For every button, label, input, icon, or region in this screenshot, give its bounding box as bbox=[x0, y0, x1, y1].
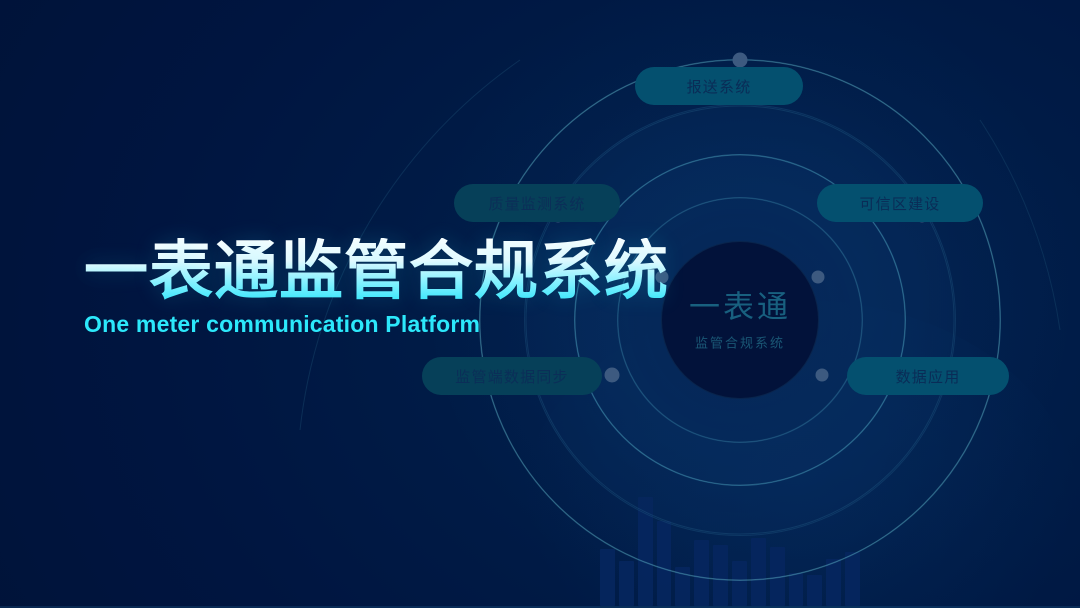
connector-dot-left-lower bbox=[605, 368, 620, 383]
slide-canvas: 一表通 监管合规系统 报送系统 质量监测系统 可信区建设 监管端数据同步 数据应… bbox=[0, 0, 1080, 608]
node-pill-label: 质量监测系统 bbox=[488, 193, 585, 214]
page-subtitle: One meter communication Platform bbox=[84, 311, 669, 338]
chart-bar bbox=[826, 559, 841, 606]
node-pill-kexinqu[interactable]: 可信区建设 bbox=[817, 184, 983, 222]
node-pill-jianguan[interactable]: 监管端数据同步 bbox=[422, 357, 602, 395]
connector-dot-right-lower-inner bbox=[816, 369, 829, 382]
node-pill-baosong[interactable]: 报送系统 bbox=[635, 67, 803, 105]
node-pill-shuju[interactable]: 数据应用 bbox=[847, 357, 1009, 395]
chart-bar bbox=[619, 561, 634, 606]
chart-bar bbox=[789, 573, 804, 606]
connector-dot-top bbox=[733, 53, 748, 68]
node-pill-zhiliang[interactable]: 质量监测系统 bbox=[454, 184, 620, 222]
page-title: 一表通监管合规系统 bbox=[84, 238, 669, 305]
chart-bar bbox=[845, 552, 860, 606]
hub-center-label: 一表通 监管合规系统 bbox=[640, 289, 840, 350]
node-pill-label: 监管端数据同步 bbox=[455, 366, 568, 387]
title-block: 一表通监管合规系统 One meter communication Platfo… bbox=[84, 238, 669, 338]
node-pill-label: 可信区建设 bbox=[859, 193, 940, 214]
node-pill-label: 报送系统 bbox=[687, 76, 752, 97]
connector-dot-inner-right-upper bbox=[812, 271, 825, 284]
chart-bar bbox=[600, 549, 615, 606]
node-pill-label: 数据应用 bbox=[896, 366, 961, 387]
chart-bar bbox=[807, 575, 822, 606]
hub-center-subtitle: 监管合规系统 bbox=[640, 335, 840, 351]
hub-center-title: 一表通 bbox=[640, 289, 840, 325]
